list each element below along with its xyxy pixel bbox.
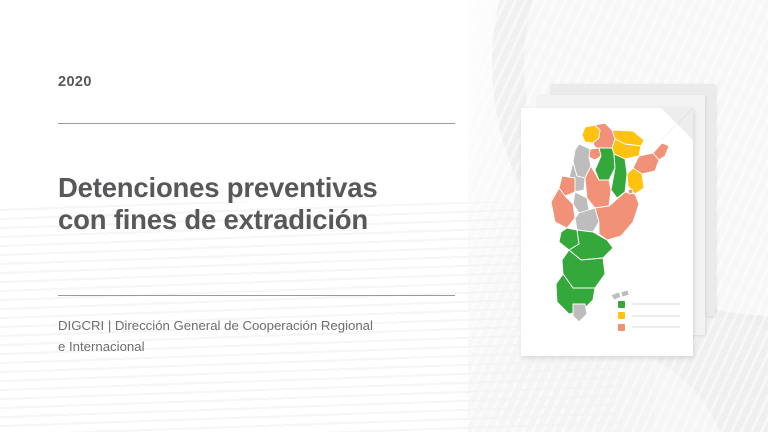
region-islas-malvinas	[611, 292, 621, 300]
document-stack	[515, 84, 720, 359]
divider-top	[58, 123, 455, 124]
region-caba	[628, 189, 633, 194]
legend-label-green	[632, 303, 680, 305]
page-title: Detenciones preventivas con fines de ext…	[58, 172, 458, 237]
argentina-map-svg	[529, 118, 685, 324]
region-tierra-del-fuego	[573, 304, 587, 322]
legend-label-salmon	[632, 326, 680, 328]
title-text-column: 2020 Detenciones preventivas con fines d…	[58, 0, 458, 432]
year-label: 2020	[58, 74, 92, 90]
legend-swatch-salmon	[618, 324, 625, 331]
background-arc-lower-light	[494, 352, 734, 432]
map-legend	[618, 301, 680, 336]
legend-swatch-yellow	[618, 312, 625, 319]
title-slide: 2020 Detenciones preventivas con fines d…	[0, 0, 768, 432]
legend-item-yellow	[618, 312, 680, 319]
page-subtitle: DIGCRI | Dirección General de Cooperació…	[58, 316, 458, 358]
page-title-line2: con fines de extradición	[58, 204, 368, 235]
document-sheet-front	[521, 108, 693, 356]
region-islas-malvinas-2	[621, 290, 629, 297]
legend-item-salmon	[618, 324, 680, 331]
background-wedge	[455, 352, 655, 432]
region-mendoza	[551, 188, 575, 228]
page-subtitle-line2: e Internacional	[58, 339, 145, 354]
divider-bottom	[58, 295, 455, 296]
page-subtitle-line1: DIGCRI | Dirección General de Cooperació…	[58, 318, 373, 333]
legend-swatch-green	[618, 301, 625, 308]
legend-item-green	[618, 301, 680, 308]
page-title-line1: Detenciones preventivas	[58, 172, 377, 203]
argentina-map	[529, 118, 685, 324]
legend-label-yellow	[632, 315, 680, 317]
